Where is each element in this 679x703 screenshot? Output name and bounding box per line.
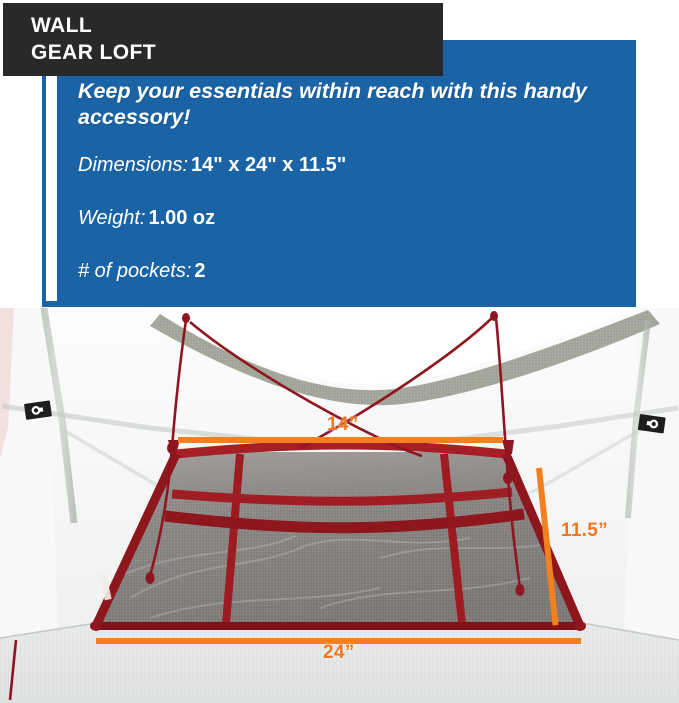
spec-pockets-label: # of pockets: <box>78 260 191 282</box>
title-line-2: GEAR LOFT <box>31 39 443 66</box>
info-text-block: Keep your essentials within reach with t… <box>78 78 608 284</box>
product-photo: 14” 11.5” 24” <box>0 308 679 703</box>
white-accent-bar <box>46 46 57 301</box>
spec-dimensions-label: Dimensions: <box>78 154 188 176</box>
spec-dimensions: Dimensions:14" x 24" x 11.5" <box>78 152 608 178</box>
measure-line-top <box>178 437 503 443</box>
measure-label-width-top: 14” <box>327 414 359 436</box>
spec-weight-value: 1.00 oz <box>148 207 215 229</box>
measure-label-width-bottom: 24” <box>323 642 355 664</box>
spec-dimensions-value: 14" x 24" x 11.5" <box>191 154 346 176</box>
title-line-1: WALL <box>31 12 443 39</box>
info-panel: WALL GEAR LOFT Keep your essentials with… <box>0 0 679 308</box>
product-info-page: WALL GEAR LOFT Keep your essentials with… <box>0 0 679 703</box>
measure-label-depth-right: 11.5” <box>561 520 608 542</box>
spec-pockets-value: 2 <box>194 260 205 282</box>
spec-pockets: # of pockets:2 <box>78 258 608 284</box>
headline: Keep your essentials within reach with t… <box>78 78 608 130</box>
spec-weight-label: Weight: <box>78 207 145 229</box>
spec-weight: Weight:1.00 oz <box>78 205 608 231</box>
title-badge: WALL GEAR LOFT <box>3 3 443 76</box>
